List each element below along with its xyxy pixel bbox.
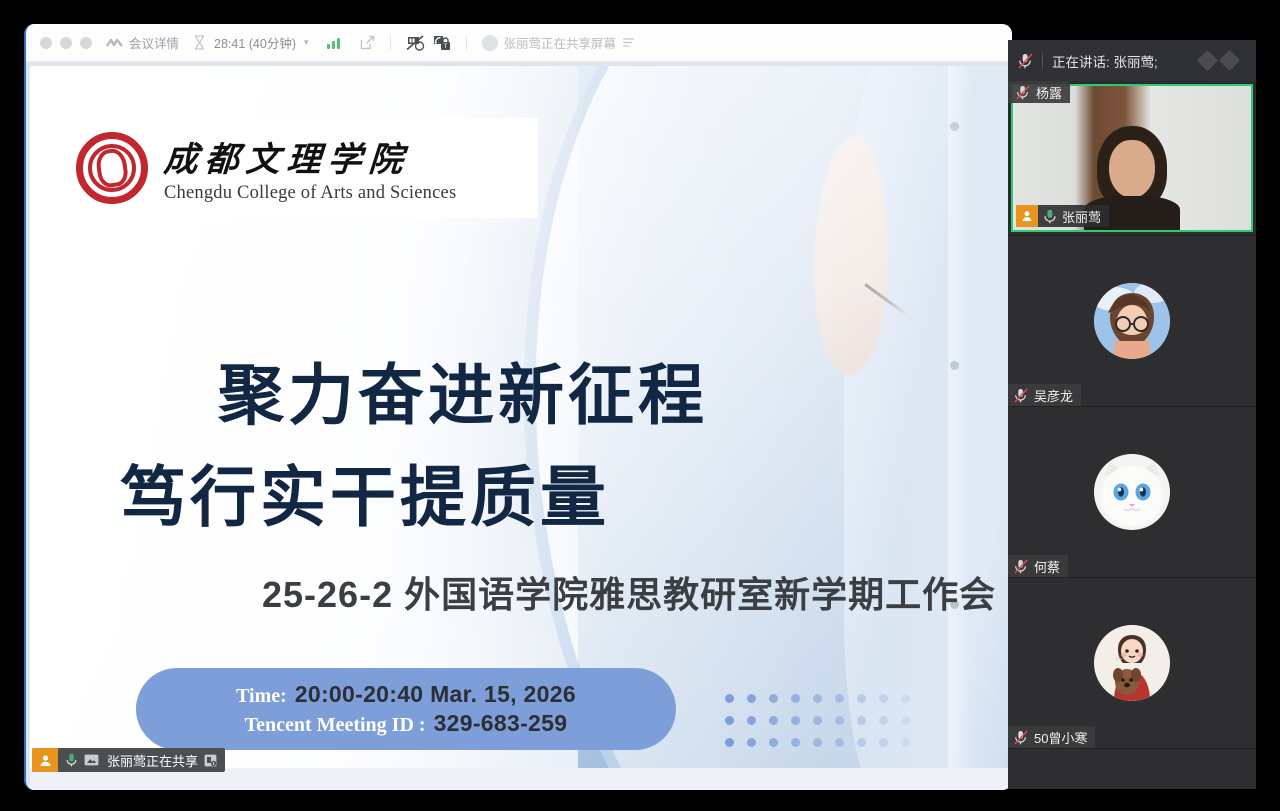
decorative-dot: [835, 738, 844, 747]
popout-window-icon[interactable]: [360, 35, 375, 50]
decorative-dot: [791, 694, 800, 703]
decorative-dot: [857, 738, 866, 747]
participant-tile[interactable]: 张丽莺: [1008, 81, 1256, 236]
participants-panel[interactable]: 正在讲话: 张丽莺; 张丽莺: [1008, 40, 1256, 789]
slide-info-box: Time: 20:00-20:40 Mar. 15, 2026 Tencent …: [136, 668, 676, 750]
decorative-dot: [769, 716, 778, 725]
participant-name: 张丽莺: [1062, 207, 1101, 226]
shared-screen-stage: 成都文理学院 Chengdu College of Arts and Scien…: [26, 62, 1012, 790]
university-name-en: Chengdu College of Arts and Sciences: [164, 183, 456, 204]
window-controls[interactable]: [40, 37, 92, 49]
decorative-dot: [791, 716, 800, 725]
meeting-window: 会议详情 28:41 (40分钟) ▾: [24, 24, 1012, 790]
decorative-dot-grid: [722, 688, 920, 754]
slide-title-line2: 笃行实干提质量: [120, 444, 610, 540]
divider: [390, 35, 391, 50]
decorative-dot: [769, 694, 778, 703]
meeting-details-label: 会议详情: [129, 33, 179, 52]
decorative-dot: [813, 694, 822, 703]
divider: [1042, 53, 1043, 69]
svg-text:T: T: [443, 44, 447, 50]
share-status-badge[interactable]: 张丽莺正在共享: [32, 748, 225, 772]
mic-muted-icon: [1018, 53, 1033, 69]
mic-muted-icon: [1014, 388, 1028, 403]
decorative-dot: [769, 738, 778, 747]
share-status-label: 张丽莺正在共享: [107, 751, 198, 770]
participant-name: 何蔡: [1034, 557, 1060, 576]
avatar-girl-with-dog: [1094, 625, 1170, 701]
decorative-dot: [857, 694, 866, 703]
tencent-meeting-watermark-icon: [1194, 47, 1250, 78]
decorative-dot: [747, 694, 756, 703]
time-label: Time:: [236, 685, 287, 708]
window-titlebar: 会议详情 28:41 (40分钟) ▾: [26, 24, 1012, 62]
sharing-notice-label: 张丽莺正在共享屏幕: [504, 33, 617, 52]
chevron-down-icon[interactable]: ▾: [304, 37, 309, 48]
annotation-off-icon[interactable]: [406, 35, 425, 51]
participant-name: 吴彦龙: [1034, 386, 1073, 405]
speaking-label: 正在讲话: 张丽莺;: [1052, 51, 1158, 71]
mic-muted-icon: [1014, 559, 1028, 574]
participant-name-badge: 何蔡: [1008, 555, 1068, 577]
mic-muted-icon: [1016, 85, 1030, 100]
university-logo: 成都文理学院 Chengdu College of Arts and Scien…: [58, 118, 538, 218]
screen: 会议详情 28:41 (40分钟) ▾: [0, 0, 1280, 811]
host-badge-icon: [32, 748, 58, 772]
participant-name: 50曾小寒: [1034, 728, 1087, 747]
share-lock-icon[interactable]: T: [433, 35, 451, 51]
avatar-anime-girl-glasses: [1094, 283, 1170, 359]
tencent-meeting-logo-icon: [106, 37, 124, 49]
decorative-dot: [901, 694, 910, 703]
decorative-dot: [879, 694, 888, 703]
decorative-dot: [901, 738, 910, 747]
divider: [466, 35, 467, 50]
maximize-button[interactable]: [80, 37, 92, 49]
meeting-id-label: Tencent Meeting ID :: [245, 714, 426, 737]
meeting-id-value: 329-683-259: [434, 710, 568, 737]
overlay-name-label: 杨露: [1036, 83, 1062, 102]
close-button[interactable]: [40, 37, 52, 49]
slide-subtitle: 25-26-2 外国语学院雅思教研室新学期工作会: [262, 566, 996, 618]
meeting-timer: 28:41 (40分钟): [214, 33, 296, 52]
decorative-dot: [725, 738, 734, 747]
decorative-dot: [725, 694, 734, 703]
panel-header: 正在讲话: 张丽莺;: [1008, 40, 1256, 81]
decorative-dot: [747, 738, 756, 747]
decorative-dot: [791, 738, 800, 747]
decorative-dot: [813, 716, 822, 725]
mic-on-icon: [66, 753, 77, 767]
decorative-dot: [835, 694, 844, 703]
avatar: [1094, 454, 1170, 530]
avatar: [1094, 283, 1170, 359]
decorative-dot: [813, 738, 822, 747]
more-menu-icon[interactable]: [622, 37, 635, 48]
share-info-icon[interactable]: [204, 754, 217, 767]
active-speaker-video: 张丽莺: [1011, 84, 1253, 232]
meeting-details-button[interactable]: 会议详情: [106, 33, 179, 52]
decorative-dot: [747, 716, 756, 725]
screen-share-icon: [84, 754, 99, 766]
decorative-dot: [835, 716, 844, 725]
mic-on-icon: [1044, 209, 1056, 224]
minimize-button[interactable]: [60, 37, 72, 49]
participant-tile[interactable]: [1008, 749, 1256, 789]
shared-slide: 成都文理学院 Chengdu College of Arts and Scien…: [30, 66, 1008, 768]
avatar: [1094, 625, 1170, 701]
university-seal-icon: [76, 132, 148, 204]
meeting-id-row: Tencent Meeting ID : 329-683-259: [245, 710, 568, 737]
time-value: 20:00-20:40 Mar. 15, 2026: [295, 681, 576, 708]
decorative-dot: [879, 738, 888, 747]
decorative-dot: [857, 716, 866, 725]
sharing-notice[interactable]: 张丽莺正在共享屏幕: [482, 33, 636, 52]
participant-name-badge: 50曾小寒: [1008, 726, 1095, 748]
host-badge-icon: [1016, 205, 1038, 227]
time-row: Time: 20:00-20:40 Mar. 15, 2026: [236, 681, 576, 708]
decorative-dot: [725, 716, 734, 725]
decorative-dot: [879, 716, 888, 725]
mic-muted-icon: [1014, 730, 1028, 745]
network-signal-icon[interactable]: [327, 37, 340, 49]
avatar-white-cat: [1094, 454, 1170, 530]
participant-tiles[interactable]: 张丽莺: [1008, 81, 1256, 789]
university-name-cn: 成都文理学院: [162, 132, 458, 181]
decorative-dot: [901, 716, 910, 725]
sharer-avatar-icon: [482, 35, 498, 51]
participant-tile[interactable]: 吴彦龙: [1008, 236, 1256, 407]
overlay-name-badge: 杨露: [1008, 81, 1070, 103]
participant-tile[interactable]: 何蔡: [1008, 407, 1256, 578]
slide-title-line1: 聚力奋进新征程: [218, 342, 708, 438]
participant-name-badge: 吴彦龙: [1008, 384, 1081, 406]
participant-name-badge: 张丽莺: [1016, 205, 1109, 227]
hourglass-icon: [193, 35, 206, 50]
participant-tile[interactable]: 50曾小寒: [1008, 578, 1256, 749]
